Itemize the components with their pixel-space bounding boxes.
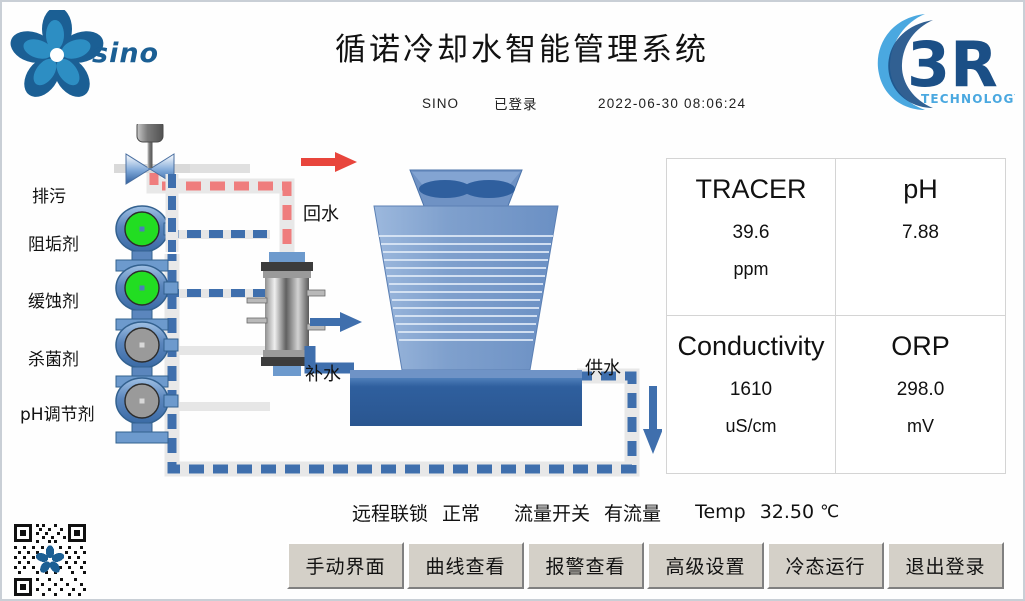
3r-wordmark: 3R — [907, 28, 998, 101]
temperature-unit: ℃ — [820, 502, 839, 522]
advanced-settings-button[interactable]: 高级设置 — [647, 542, 764, 589]
return-flow-arrow — [301, 152, 357, 172]
curve-view-button[interactable]: 曲线查看 — [407, 542, 524, 589]
status-bar: 远程联锁 正常 流量开关 有流量 Temp 32.50 ℃ — [352, 494, 1012, 530]
login-status: 已登录 — [494, 93, 598, 113]
measurement-unit: uS/cm — [725, 416, 776, 437]
measurement-value: 39.6 — [733, 222, 770, 244]
session-info-bar: SINO 已登录 2022-06-30 08:06:24 — [422, 92, 882, 114]
cold-start-run-button[interactable]: 冷态运行 — [767, 542, 884, 589]
measurement-unit: mV — [907, 416, 934, 437]
3r-technology-logo: 3R TECHNOLOGY — [863, 4, 1015, 116]
measurement-unit: ppm — [733, 259, 768, 280]
user-name: SINO — [422, 96, 494, 111]
measurement-name: ORP — [891, 330, 950, 364]
flow-switch-label: 流量开关 — [514, 499, 590, 526]
measurement-value: 1610 — [730, 379, 772, 401]
flow-switch-value: 有流量 — [604, 499, 661, 526]
button-bar: 手动界面 曲线查看 报警查看 高级设置 冷态运行 退出登录 — [287, 542, 1004, 589]
label-blowdown: 排污 — [32, 182, 66, 207]
measurement-cell-orp: ORP 298.0 mV — [836, 316, 1005, 473]
logout-button[interactable]: 退出登录 — [887, 542, 1004, 589]
svg-text:TECHNOLOGY: TECHNOLOGY — [921, 92, 1015, 106]
page-title: 循诺冷却水智能管理系统 — [262, 24, 782, 69]
measurement-name: pH — [903, 173, 938, 207]
sino-logo: sino — [10, 10, 158, 100]
remote-interlock-value: 正常 — [442, 499, 480, 526]
alarm-view-button[interactable]: 报警查看 — [527, 542, 644, 589]
qr-code — [10, 520, 90, 600]
temperature-value: 32.50 — [760, 501, 814, 523]
remote-interlock-label: 远程联锁 — [352, 499, 428, 526]
temperature-label: Temp — [695, 501, 746, 523]
manual-interface-button[interactable]: 手动界面 — [287, 542, 404, 589]
cooling-tower — [350, 170, 582, 426]
header-bar: sino 循诺冷却水智能管理系统 SINO 已登录 2022-06-30 08:… — [2, 2, 1023, 124]
measurement-value: 7.88 — [902, 222, 939, 244]
measurement-name: Conductivity — [677, 330, 824, 364]
supply-flow-arrow-down — [643, 386, 662, 454]
label-biocide: 杀菌剂 — [28, 345, 79, 370]
measurement-name: TRACER — [695, 173, 806, 207]
dosing-lines — [165, 234, 270, 293]
measurement-value: 298.0 — [897, 379, 945, 401]
datetime-stamp: 2022-06-30 08:06:24 — [598, 96, 882, 111]
label-ph-adjuster: pH调节剂 — [20, 400, 95, 425]
measurement-cell-conductivity: Conductivity 1610 uS/cm — [667, 316, 836, 473]
svg-text:sino: sino — [92, 38, 158, 69]
label-supply-water: 供水 — [585, 354, 621, 380]
process-schematic — [2, 124, 662, 484]
measurement-panel: TRACER 39.6 ppm pH 7.88 Conductivity 161… — [666, 158, 1006, 474]
measurement-cell-ph: pH 7.88 — [836, 159, 1005, 316]
scada-screen: sino 循诺冷却水智能管理系统 SINO 已登录 2022-06-30 08:… — [0, 0, 1025, 601]
label-scale-inhibitor: 阻垢剂 — [28, 230, 79, 255]
label-corrosion-inhibitor: 缓蚀剂 — [28, 287, 79, 312]
label-return-water: 回水 — [303, 200, 339, 226]
label-makeup-water: 补水 — [305, 360, 341, 386]
measurement-cell-tracer: TRACER 39.6 ppm — [667, 159, 836, 316]
